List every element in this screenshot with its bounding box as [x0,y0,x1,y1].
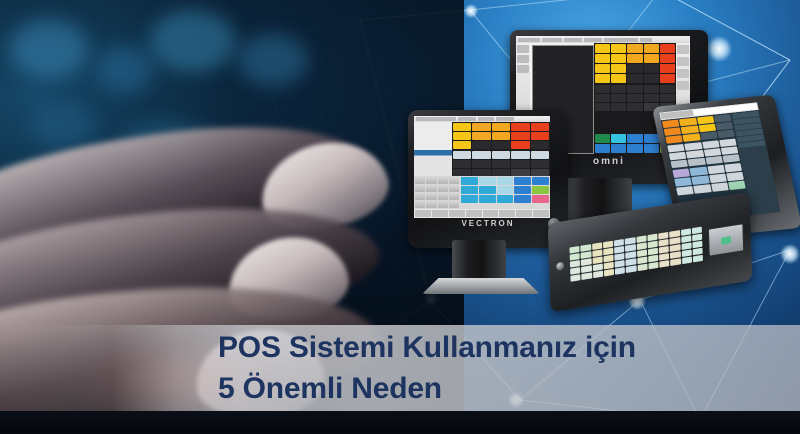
vectron-category-buttons [452,150,550,176]
omni-product-buttons [594,43,676,84]
pos-device-group: omni [392,18,792,308]
headline-line-1: POS Sistemi Kullanmanız için [218,327,778,368]
vectron-numpad [414,176,460,209]
vectron-brand-label: VECTRON [461,219,514,228]
vectron-stand-base [422,278,540,294]
pos-terminal-vectron: VECTRON [408,110,556,248]
vectron-stand-neck [452,240,506,282]
keyboard-unit-display [708,223,745,257]
keyboard-lock-icon [556,262,564,271]
headline-line-2: 5 Önemli Neden [218,368,778,409]
headline-block: POS Sistemi Kullanmanız için 5 Önemli Ne… [218,327,778,409]
mesh-node [464,4,478,18]
banner-image: omni [0,0,800,434]
pos-keyboard-unit [548,208,738,296]
vectron-bezel: VECTRON [408,110,568,248]
keyboard-unit-body [548,192,753,313]
keyboard-keys [569,227,703,282]
vectron-product-buttons [452,122,550,150]
omni-screen-toolbar [516,36,690,43]
vectron-screen [414,116,550,218]
bottom-dark-strip [0,411,800,434]
vectron-action-buttons [460,176,550,209]
